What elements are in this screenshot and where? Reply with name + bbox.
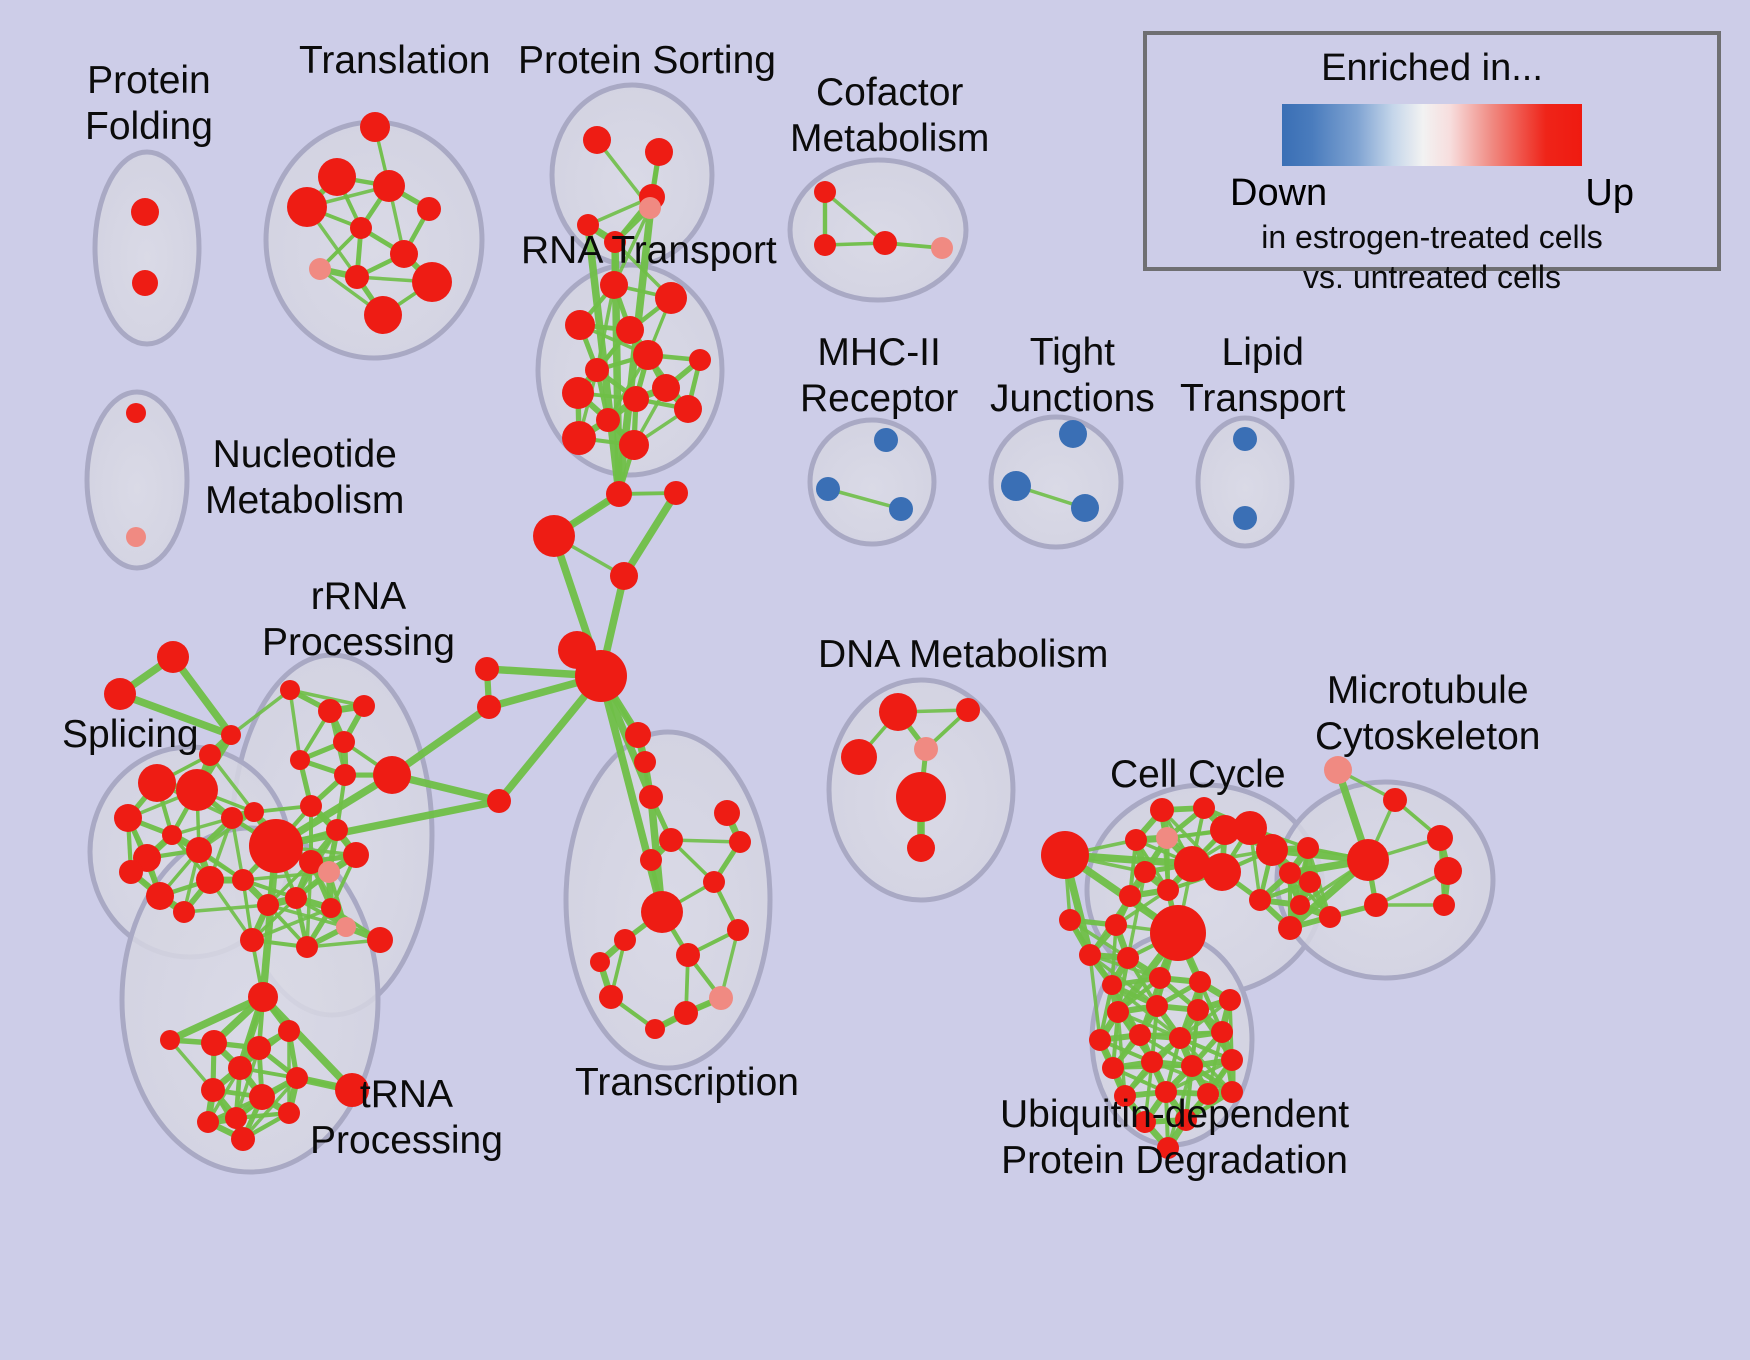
network-node — [1249, 889, 1271, 911]
network-node — [278, 1102, 300, 1124]
network-node — [907, 834, 935, 862]
network-node — [1278, 916, 1302, 940]
network-node — [676, 943, 700, 967]
network-node — [318, 158, 356, 196]
legend-caption-line-2: vs. untreated cells — [1147, 258, 1717, 296]
network-node — [562, 421, 596, 455]
network-node — [157, 641, 189, 673]
network-node — [674, 395, 702, 423]
network-node — [1175, 1109, 1197, 1131]
network-node — [889, 497, 913, 521]
network-node — [228, 1056, 252, 1080]
network-node — [412, 262, 452, 302]
cluster-hull — [552, 85, 712, 265]
network-node — [196, 866, 224, 894]
network-node — [249, 819, 303, 873]
network-node — [533, 515, 575, 557]
network-node — [1427, 825, 1453, 851]
network-node — [634, 751, 656, 773]
network-node — [1434, 857, 1462, 885]
network-node — [1187, 999, 1209, 1021]
network-node — [1134, 861, 1156, 883]
network-node — [300, 795, 322, 817]
network-node — [244, 802, 264, 822]
network-node — [138, 764, 176, 802]
network-node — [360, 112, 390, 142]
network-node — [487, 789, 511, 813]
network-node — [309, 258, 331, 280]
network-node — [290, 750, 310, 770]
network-node — [645, 138, 673, 166]
network-node — [1079, 944, 1101, 966]
network-node — [1203, 853, 1241, 891]
network-node — [1299, 871, 1321, 893]
network-node — [1324, 756, 1352, 784]
network-node — [126, 527, 146, 547]
network-node — [1157, 1137, 1179, 1159]
network-node — [633, 340, 663, 370]
network-node — [1347, 839, 1389, 881]
network-node — [221, 725, 241, 745]
network-node — [625, 722, 651, 748]
network-node — [639, 197, 661, 219]
network-node — [879, 693, 917, 731]
network-node — [1219, 989, 1241, 1011]
network-node — [874, 428, 898, 452]
network-node — [1114, 1085, 1136, 1107]
network-node — [659, 828, 683, 852]
network-node — [1102, 975, 1122, 995]
network-node — [655, 282, 687, 314]
network-node — [417, 197, 441, 221]
network-node — [1089, 1029, 1111, 1051]
edge — [624, 493, 676, 576]
network-node — [173, 901, 195, 923]
network-node — [1150, 798, 1174, 822]
network-node — [639, 785, 663, 809]
network-node — [1290, 895, 1310, 915]
network-node — [201, 1078, 225, 1102]
network-node — [367, 927, 393, 953]
network-node — [248, 982, 278, 1012]
network-node — [600, 271, 628, 299]
network-node — [186, 837, 212, 863]
network-node — [1146, 995, 1168, 1017]
network-node — [1221, 1049, 1243, 1071]
network-node — [318, 699, 342, 723]
network-node — [1157, 879, 1179, 901]
network-node — [640, 849, 662, 871]
network-node — [176, 769, 218, 811]
network-node — [873, 231, 897, 255]
network-node — [1156, 827, 1178, 849]
network-node — [590, 952, 610, 972]
network-node — [956, 698, 980, 722]
network-node — [577, 214, 599, 236]
network-node — [1211, 1021, 1233, 1043]
network-node — [727, 919, 749, 941]
network-node — [604, 231, 626, 253]
network-node — [286, 1067, 308, 1089]
network-node — [1279, 862, 1301, 884]
network-node — [816, 477, 840, 501]
network-node — [585, 358, 609, 382]
network-node — [390, 240, 418, 268]
network-node — [729, 831, 751, 853]
network-node — [201, 1030, 227, 1056]
network-node — [664, 481, 688, 505]
network-node — [814, 181, 836, 203]
network-node — [231, 1127, 255, 1151]
network-node — [610, 562, 638, 590]
network-node — [1001, 471, 1031, 501]
network-node — [1155, 1081, 1177, 1103]
network-node — [562, 377, 594, 409]
network-node — [674, 1001, 698, 1025]
network-node — [596, 408, 620, 432]
network-node — [345, 265, 369, 289]
network-node — [623, 386, 649, 412]
network-node — [114, 804, 142, 832]
legend-high-label: Up — [1585, 172, 1634, 215]
network-node — [326, 819, 348, 841]
network-node — [232, 869, 254, 891]
network-node — [1150, 905, 1206, 961]
network-node — [1119, 885, 1141, 907]
enrichment-map-figure: Protein Folding Translation Nucleotide M… — [0, 0, 1750, 1360]
network-node — [364, 296, 402, 334]
network-node — [645, 1019, 665, 1039]
network-node — [1107, 1001, 1129, 1023]
network-node — [132, 270, 158, 296]
network-node — [350, 217, 372, 239]
network-node — [373, 756, 411, 794]
legend-endpoints: Down Up — [1230, 172, 1634, 216]
network-node — [583, 126, 611, 154]
network-node — [1233, 506, 1257, 530]
network-node — [1041, 831, 1089, 879]
network-node — [1125, 829, 1147, 851]
network-node — [1193, 797, 1215, 819]
network-node — [353, 695, 375, 717]
network-node — [225, 1107, 247, 1129]
network-node — [1059, 909, 1081, 931]
cluster-hull — [790, 160, 966, 300]
network-node — [475, 657, 499, 681]
network-node — [285, 887, 307, 909]
network-node — [1117, 947, 1139, 969]
network-node — [703, 871, 725, 893]
network-node — [334, 764, 356, 786]
network-node — [599, 985, 623, 1009]
network-node — [714, 800, 740, 826]
network-node — [1233, 427, 1257, 451]
legend-title: Enriched in... — [1147, 47, 1717, 90]
legend-caption-line-1: in estrogen-treated cells — [1147, 218, 1717, 256]
network-node — [1364, 893, 1388, 917]
network-node — [1105, 914, 1127, 936]
network-node — [131, 198, 159, 226]
network-node — [565, 310, 595, 340]
network-node — [1141, 1051, 1163, 1073]
network-node — [336, 917, 356, 937]
network-node — [1071, 494, 1099, 522]
network-node — [841, 739, 877, 775]
network-node — [1102, 1057, 1124, 1079]
network-node — [709, 986, 733, 1010]
network-node — [296, 936, 318, 958]
network-node — [280, 680, 300, 700]
network-node — [1134, 1111, 1156, 1133]
network-node — [814, 234, 836, 256]
network-node — [257, 894, 279, 916]
network-node — [247, 1036, 271, 1060]
network-node — [1169, 1027, 1191, 1049]
network-node — [575, 650, 627, 702]
network-node — [318, 861, 340, 883]
network-node — [1059, 420, 1087, 448]
network-node — [343, 842, 369, 868]
network-node — [160, 1030, 180, 1050]
network-node — [373, 170, 405, 202]
network-node — [1433, 894, 1455, 916]
network-node — [652, 374, 680, 402]
network-node — [221, 807, 243, 829]
network-node — [1221, 1081, 1243, 1103]
network-node — [1256, 834, 1288, 866]
network-node — [287, 187, 327, 227]
network-node — [1149, 967, 1171, 989]
network-node — [199, 744, 221, 766]
network-node — [333, 731, 355, 753]
legend-panel: Enriched in... Down Up in estrogen-treat… — [1143, 31, 1721, 271]
network-node — [606, 481, 632, 507]
network-node — [896, 772, 946, 822]
network-node — [1181, 1055, 1203, 1077]
network-node — [1297, 837, 1319, 859]
network-node — [641, 891, 683, 933]
network-node — [914, 737, 938, 761]
network-node — [321, 898, 341, 918]
cluster-hull — [95, 152, 199, 344]
network-node — [162, 825, 182, 845]
network-node — [126, 403, 146, 423]
network-node — [1319, 906, 1341, 928]
network-node — [1189, 971, 1211, 993]
network-node — [197, 1111, 219, 1133]
legend-colorbar — [1282, 104, 1582, 166]
network-node — [1383, 788, 1407, 812]
network-node — [335, 1073, 369, 1107]
network-node — [1129, 1024, 1151, 1046]
network-node — [119, 860, 143, 884]
network-node — [616, 316, 644, 344]
network-node — [146, 882, 174, 910]
network-node — [249, 1084, 275, 1110]
network-node — [614, 929, 636, 951]
network-node — [104, 678, 136, 710]
network-node — [689, 349, 711, 371]
legend-low-label: Down — [1230, 172, 1327, 215]
network-node — [1197, 1083, 1219, 1105]
network-node — [240, 928, 264, 952]
network-node — [931, 237, 953, 259]
network-node — [619, 430, 649, 460]
network-node — [278, 1020, 300, 1042]
network-node — [477, 695, 501, 719]
